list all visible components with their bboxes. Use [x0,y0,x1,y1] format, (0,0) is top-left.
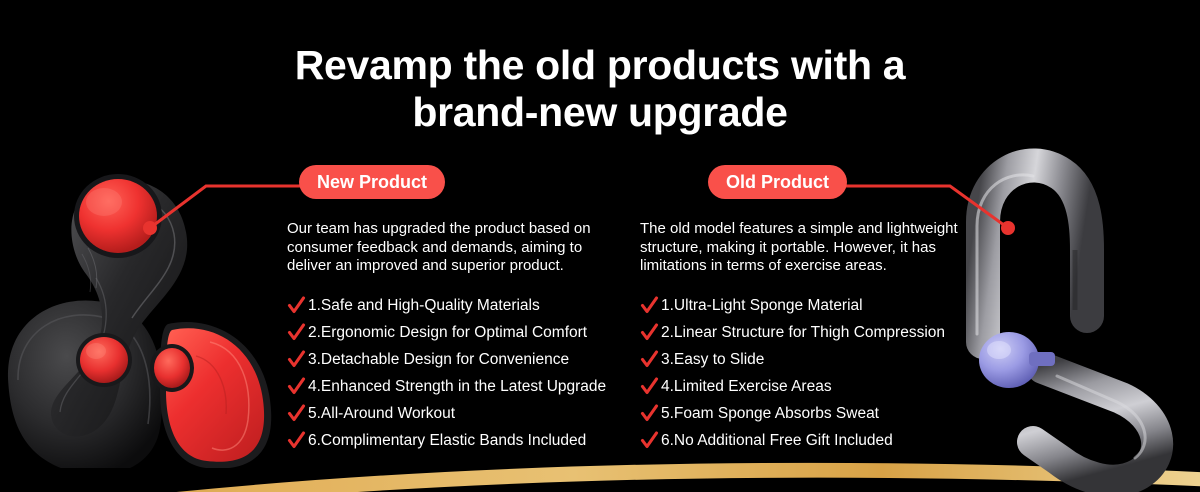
list-item: 2.Ergonomic Design for Optimal Comfort [287,319,617,346]
list-item-label: 2.Ergonomic Design for Optimal Comfort [308,319,587,346]
list-item-label: 3.Easy to Slide [661,346,764,373]
list-item-label: 5.All-Around Workout [308,400,455,427]
list-item-label: 6.Complimentary Elastic Bands Included [308,427,586,454]
new-product-badge: New Product [299,165,445,199]
list-item: 4.Enhanced Strength in the Latest Upgrad… [287,373,617,400]
check-icon [640,319,659,346]
old-product-description: The old model features a simple and ligh… [640,220,980,276]
list-item: 4.Limited Exercise Areas [640,373,980,400]
check-icon [287,427,306,454]
list-item: 6.Complimentary Elastic Bands Included [287,427,617,454]
list-item-label: 6.No Additional Free Gift Included [661,427,893,454]
new-product-feature-list: 1.Safe and High-Quality Materials 2.Ergo… [287,292,617,454]
check-icon [287,292,306,319]
list-item: 6.No Additional Free Gift Included [640,427,980,454]
check-icon [287,319,306,346]
new-product-description: Our team has upgraded the product based … [287,220,617,276]
check-icon [640,292,659,319]
list-item-label: 1.Ultra-Light Sponge Material [661,292,863,319]
check-icon [287,373,306,400]
list-item: 2.Linear Structure for Thigh Compression [640,319,980,346]
check-icon [640,427,659,454]
product-comparison-banner: Revamp the old products with a brand-new… [0,0,1200,492]
list-item-label: 2.Linear Structure for Thigh Compression [661,319,945,346]
list-item: 3.Detachable Design for Convenience [287,346,617,373]
old-product-column: The old model features a simple and ligh… [640,220,980,454]
list-item-label: 1.Safe and High-Quality Materials [308,292,540,319]
list-item-label: 3.Detachable Design for Convenience [308,346,569,373]
check-icon [287,346,306,373]
list-item: 1.Ultra-Light Sponge Material [640,292,980,319]
old-product-badge: Old Product [708,165,847,199]
list-item-label: 4.Limited Exercise Areas [661,373,832,400]
check-icon [640,346,659,373]
check-icon [640,373,659,400]
old-product-feature-list: 1.Ultra-Light Sponge Material 2.Linear S… [640,292,980,454]
list-item: 3.Easy to Slide [640,346,980,373]
check-icon [287,400,306,427]
list-item-label: 4.Enhanced Strength in the Latest Upgrad… [308,373,606,400]
check-icon [640,400,659,427]
new-product-column: Our team has upgraded the product based … [287,220,617,454]
list-item: 5.Foam Sponge Absorbs Sweat [640,400,980,427]
list-item: 1.Safe and High-Quality Materials [287,292,617,319]
list-item: 5.All-Around Workout [287,400,617,427]
list-item-label: 5.Foam Sponge Absorbs Sweat [661,400,879,427]
page-title: Revamp the old products with a brand-new… [0,42,1200,136]
